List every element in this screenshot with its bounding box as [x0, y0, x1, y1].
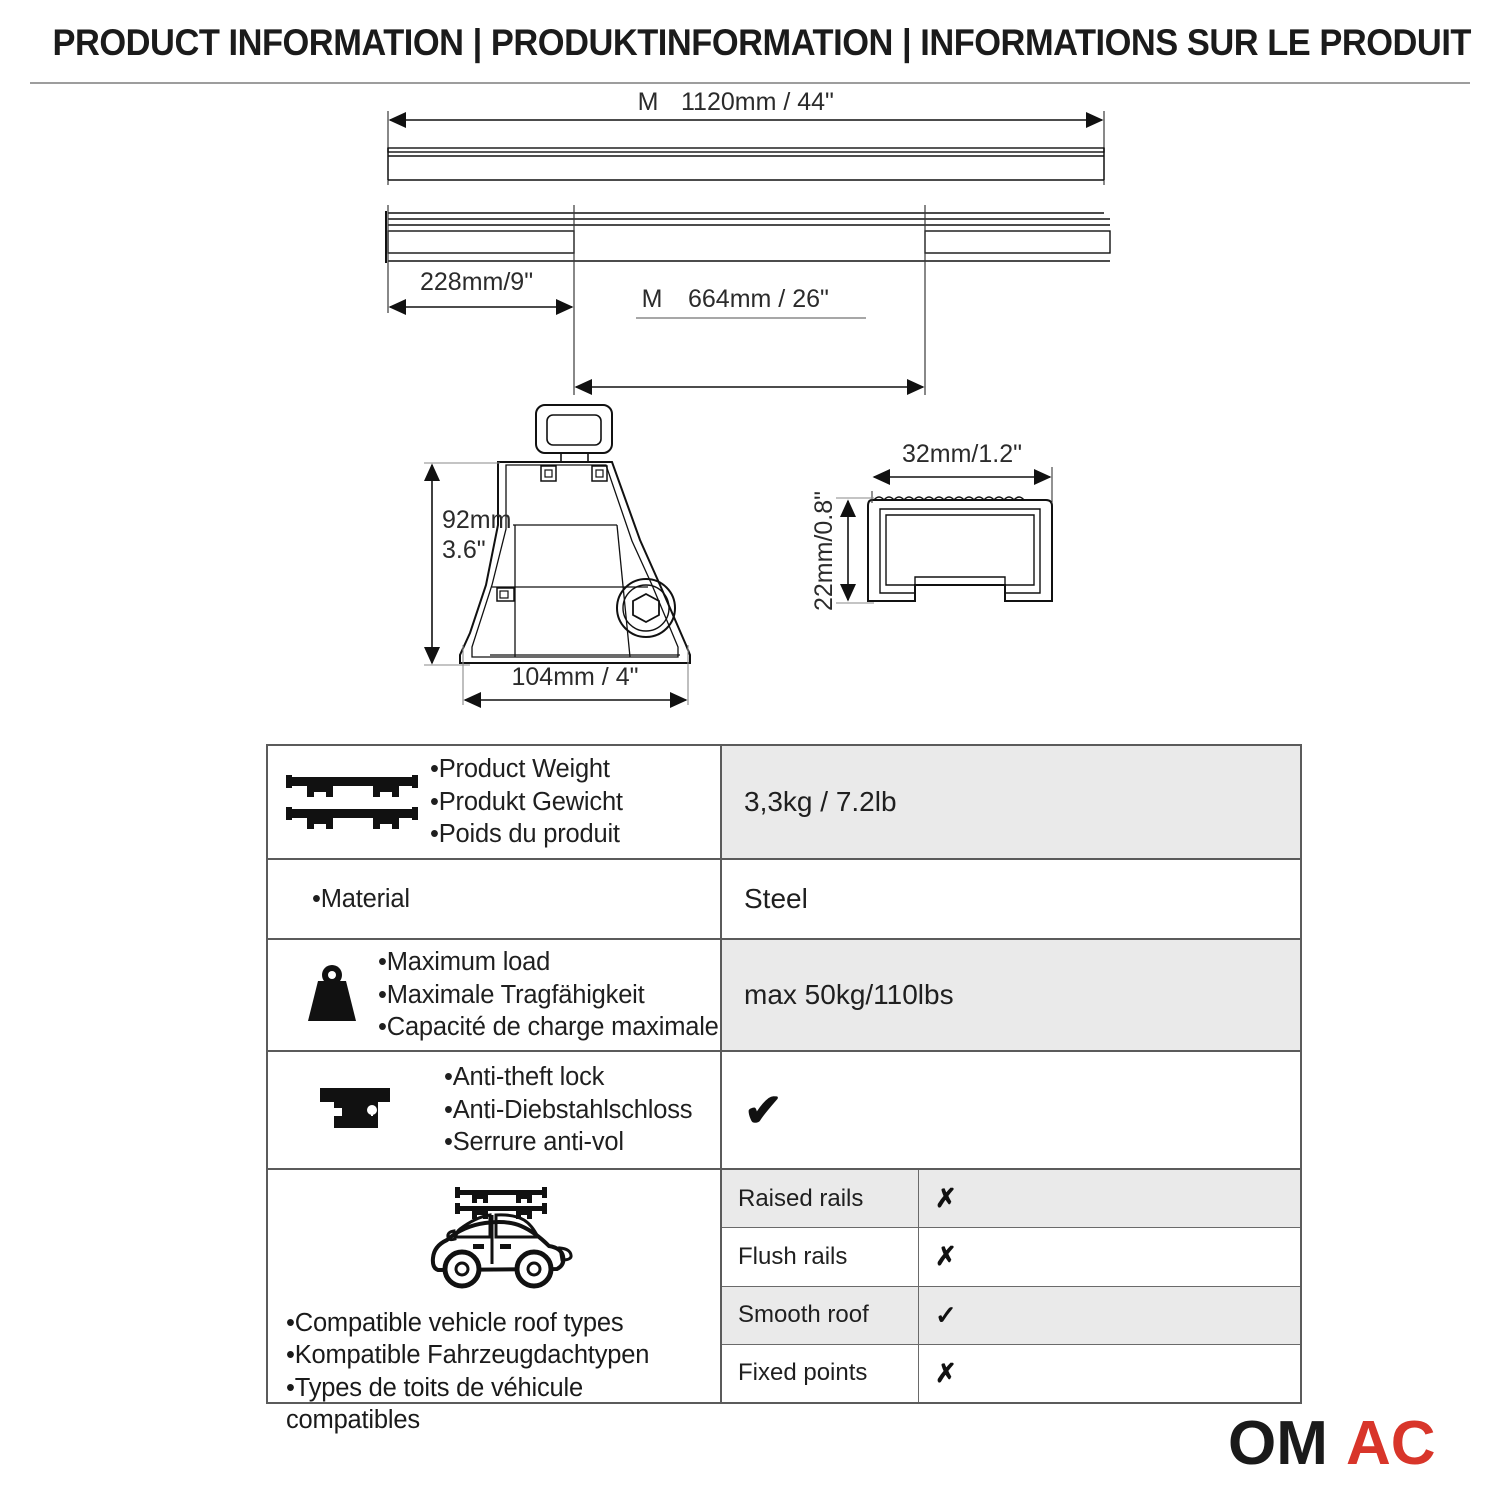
label-line: •Maximum load [378, 946, 719, 979]
roof-type-row-raised-rails: Raised rails ✗ [722, 1170, 1300, 1228]
roof-type-label: Fixed points [722, 1345, 919, 1402]
page-title: PRODUCT INFORMATION | PRODUKTINFORMATION… [53, 22, 1448, 64]
table-row-roof-types: •Compatible vehicle roof types •Kompatib… [268, 1170, 1300, 1402]
row-label-cell: •Product Weight •Produkt Gewicht •Poids … [268, 746, 722, 858]
crossbars-icon [280, 767, 430, 837]
dim-end-offset: 228mm/9" [420, 268, 533, 296]
table-row-product-weight: •Product Weight •Produkt Gewicht •Poids … [268, 746, 1300, 860]
label-line: •Serrure anti-vol [444, 1126, 692, 1159]
row-label-cell: •Material [268, 860, 722, 938]
label-line: •Poids du produit [430, 818, 623, 851]
table-row-maximum-load: •Maximum load •Maximale Tragfähigkeit •C… [268, 940, 1300, 1052]
profile-cross-section-drawing [868, 497, 1052, 601]
label-line: •Compatible vehicle roof types [286, 1307, 649, 1339]
row-label-cell: •Maximum load •Maximale Tragfähigkeit •C… [268, 940, 722, 1050]
row-value-product-weight: 3,3kg / 7.2lb [722, 746, 1300, 858]
row-value-maximum-load: max 50kg/110lbs [722, 940, 1300, 1050]
row-value-anti-theft-lock: ✔ [722, 1052, 1300, 1168]
row-label-cell: •Compatible vehicle roof types •Kompatib… [268, 1170, 722, 1402]
dim-foot-width: 104mm / 4" [512, 663, 639, 691]
dim-profile-height: 22mm/0.8" [810, 491, 838, 611]
roof-type-row-flush-rails: Flush rails ✗ [722, 1228, 1300, 1286]
lock-icon [280, 1082, 430, 1138]
check-icon: ✔ [744, 1087, 783, 1133]
row-labels: •Maximum load •Maximale Tragfähigkeit •C… [378, 946, 719, 1044]
dim-spread-prefix: M [642, 285, 663, 313]
check-icon: ✓ [919, 1287, 1300, 1344]
row-label-cell: •Anti-theft lock •Anti-Diebstahlschloss … [268, 1052, 722, 1168]
dim-foot-height-line2: 3.6" [442, 536, 486, 564]
dim-bar-length-value: 1120mm / 44" [681, 88, 834, 116]
weight-icon [286, 963, 378, 1027]
technical-drawing: M 1120mm / 44" 228mm/9" M 664mm / 26" [0, 85, 1500, 725]
label-line: •Product Weight [430, 753, 623, 786]
roof-type-row-smooth-roof: Smooth roof ✓ [722, 1287, 1300, 1345]
label-line: •Capacité de charge maximale [378, 1011, 719, 1044]
roof-type-label: Smooth roof [722, 1287, 919, 1344]
dim-bar-length-prefix: M [638, 88, 659, 116]
roof-type-label: Flush rails [722, 1228, 919, 1285]
header-divider [30, 82, 1470, 84]
label-line: •Anti-Diebstahlschloss [444, 1094, 692, 1127]
roof-types-subtable: Raised rails ✗ Flush rails ✗ Smooth roof… [722, 1170, 1300, 1402]
dim-profile-width: 32mm/1.2" [902, 440, 1022, 468]
roof-type-label: Raised rails [722, 1170, 919, 1227]
row-labels: •Anti-theft lock •Anti-Diebstahlschloss … [430, 1061, 692, 1159]
omac-logo: OM AC [1228, 1414, 1468, 1476]
specification-table: •Product Weight •Produkt Gewicht •Poids … [266, 744, 1302, 1404]
label-line: compatibles [286, 1404, 649, 1436]
dim-foot-height-line1: 92mm [442, 506, 511, 534]
dim-spread-value: 664mm / 26" [688, 285, 829, 313]
cross-icon: ✗ [919, 1345, 1300, 1402]
logo-text-red: AC [1346, 1414, 1436, 1476]
roof-type-row-fixed-points: Fixed points ✗ [722, 1345, 1300, 1402]
cross-icon: ✗ [919, 1228, 1300, 1285]
label-line: •Types de toits de véhicule [286, 1372, 649, 1404]
table-row-material: •Material Steel [268, 860, 1300, 940]
label-line: •Material [312, 883, 410, 916]
cross-icon: ✗ [919, 1170, 1300, 1227]
car-with-rack-icon [420, 1184, 580, 1299]
row-value-material: Steel [722, 860, 1300, 938]
row-labels: •Product Weight •Produkt Gewicht •Poids … [430, 753, 623, 851]
logo-text-dark: OM [1228, 1414, 1328, 1476]
table-row-anti-theft-lock: •Anti-theft lock •Anti-Diebstahlschloss … [268, 1052, 1300, 1170]
foot-elevation-drawing [460, 405, 690, 663]
label-line: •Kompatible Fahrzeugdachtypen [286, 1339, 649, 1371]
label-line: •Anti-theft lock [444, 1061, 692, 1094]
row-labels: •Material [312, 883, 410, 916]
label-line: •Maximale Tragfähigkeit [378, 979, 719, 1012]
row-labels: •Compatible vehicle roof types •Kompatib… [286, 1307, 649, 1437]
label-line: •Produkt Gewicht [430, 786, 623, 819]
